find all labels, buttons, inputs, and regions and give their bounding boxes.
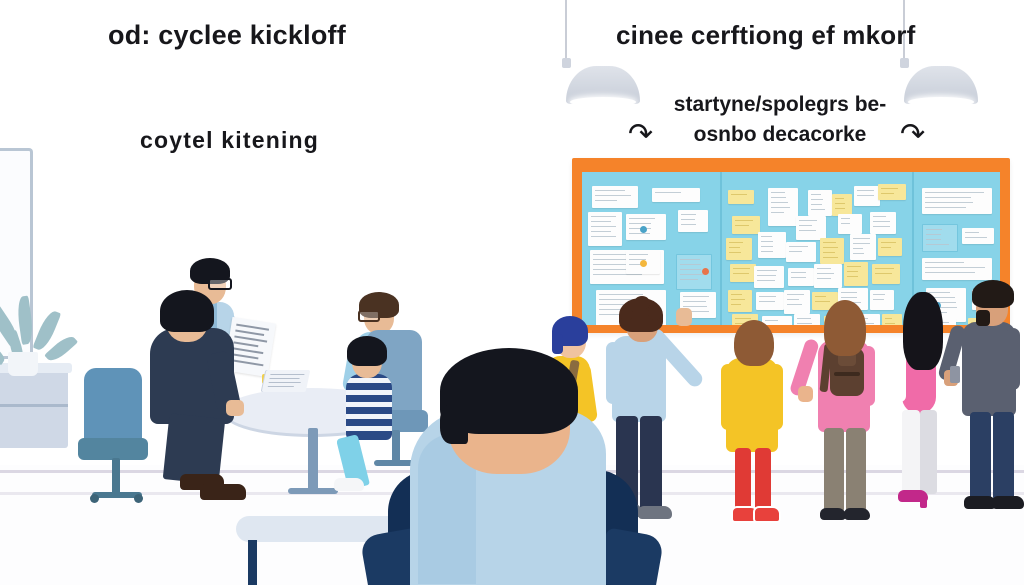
board-card bbox=[652, 188, 700, 202]
sticky-note bbox=[832, 194, 852, 216]
right-title: cinee cerftiong ef mkorf bbox=[616, 20, 916, 51]
sticky-note bbox=[878, 238, 902, 256]
board-card bbox=[838, 214, 862, 234]
sticky-note bbox=[728, 190, 754, 204]
board-card bbox=[854, 186, 880, 206]
board-card bbox=[758, 232, 786, 258]
board-card bbox=[814, 264, 842, 288]
plant-pot bbox=[8, 352, 38, 376]
sticky-note bbox=[726, 238, 752, 260]
sticky-note bbox=[732, 216, 760, 234]
illustration-scene: od: cyclee kickloff coytel kitening cine… bbox=[0, 0, 1024, 585]
board-card bbox=[768, 188, 798, 226]
board-card bbox=[850, 234, 876, 260]
board-card bbox=[788, 268, 814, 286]
man-in-dark-suit bbox=[142, 292, 262, 504]
side-cabinet bbox=[0, 370, 68, 448]
board-card bbox=[784, 290, 810, 314]
sticky-note bbox=[730, 264, 756, 282]
page-title: od: cyclee kickloff bbox=[108, 20, 346, 51]
lamp-neck bbox=[562, 58, 571, 68]
board-card bbox=[678, 210, 708, 232]
lamp-neck bbox=[900, 58, 909, 68]
board-card bbox=[870, 212, 896, 234]
board-divider-1 bbox=[720, 172, 722, 325]
laptop bbox=[262, 370, 311, 392]
lamp-cord bbox=[565, 0, 567, 62]
board-card bbox=[754, 266, 784, 288]
cabinet-drawer-line bbox=[0, 404, 68, 407]
glasses bbox=[208, 278, 232, 290]
curved-arrow-right-icon: ↷ bbox=[900, 120, 925, 150]
pointing-hand bbox=[676, 308, 692, 326]
board-accent-dot bbox=[640, 226, 647, 233]
board-accent-dot bbox=[640, 260, 647, 267]
board-accent-dot bbox=[702, 268, 709, 275]
page-subtitle: coytel kitening bbox=[140, 127, 319, 154]
board-card bbox=[592, 186, 638, 208]
woman-pink-vest-white-pants bbox=[888, 290, 954, 540]
board-card bbox=[962, 228, 994, 244]
sticky-note bbox=[844, 262, 868, 286]
sticky-note bbox=[728, 290, 752, 312]
right-caption-line-1: startyne/spolegrs be- bbox=[600, 90, 960, 120]
board-card bbox=[756, 292, 784, 310]
board-card bbox=[786, 242, 816, 262]
board-card bbox=[588, 212, 622, 246]
board-card bbox=[922, 188, 992, 214]
man-gray-sweater-holding-phone bbox=[956, 278, 1024, 540]
board-panel bbox=[922, 224, 958, 252]
sticky-note bbox=[820, 238, 844, 264]
sticky-note bbox=[878, 184, 906, 200]
beard bbox=[976, 310, 990, 326]
foreground-man-light-blue-shirt bbox=[400, 352, 630, 585]
board-card bbox=[796, 216, 826, 240]
curved-arrow-left-icon: ↶ bbox=[628, 120, 653, 150]
board-card bbox=[922, 258, 992, 280]
sticky-note bbox=[872, 264, 900, 284]
person-pink-top-backpack bbox=[812, 300, 884, 546]
person-yellow-coat-red-tights bbox=[722, 318, 786, 546]
board-card bbox=[808, 190, 832, 216]
glasses bbox=[358, 310, 380, 322]
